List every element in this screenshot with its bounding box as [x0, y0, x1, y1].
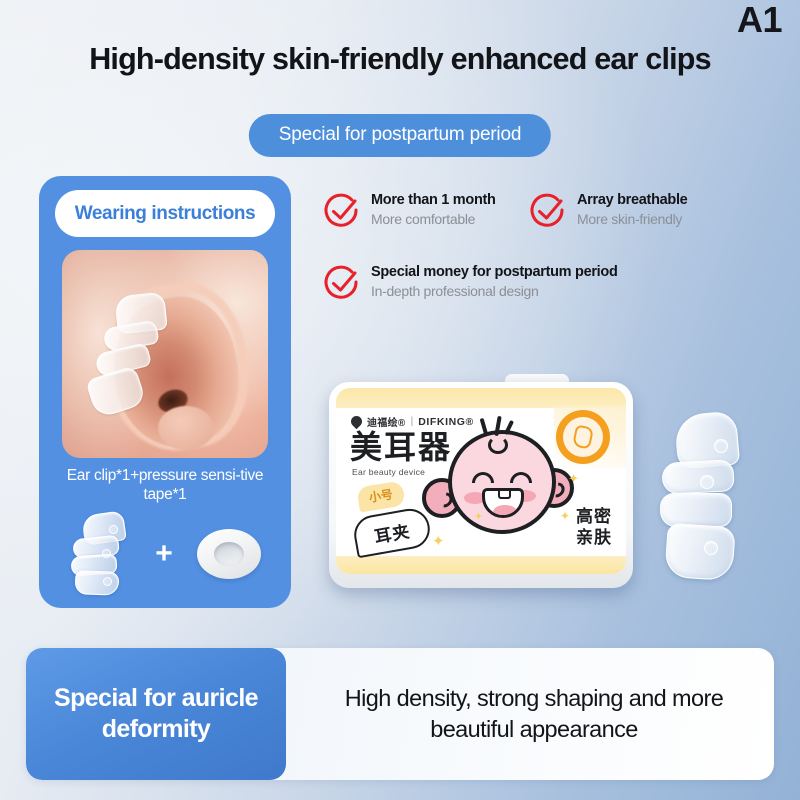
wearing-instructions-chip: Wearing instructions	[55, 190, 275, 237]
sparkle-icon: ✦	[474, 512, 483, 523]
feature-item: Special money for postpartum period In-d…	[322, 262, 618, 303]
package-label: 迪福绘® | DIFKING® 美耳器 Ear beauty device 小号…	[336, 388, 626, 574]
sparkle-icon: ✦	[568, 472, 579, 485]
baby-forehead-swirl	[488, 436, 508, 454]
brand-divider: |	[411, 416, 414, 427]
feature-text: Special money for postpartum period In-d…	[371, 262, 618, 300]
tape-hole	[214, 542, 244, 566]
feature-title: Special money for postpartum period	[371, 264, 618, 281]
auricle-deformity-label: Special for auricle deformity	[43, 683, 269, 745]
clip-speech-bubble: 耳夹	[351, 506, 433, 559]
density-claim-label: 高密亲肤	[576, 506, 612, 548]
check-circle-icon	[322, 263, 362, 303]
size-badge-label: 小号	[368, 487, 394, 505]
hair-strand	[480, 418, 489, 436]
clip-segment	[664, 523, 736, 582]
page-title: High-density skin-friendly enhanced ear …	[0, 42, 800, 77]
clip-segment	[661, 459, 735, 495]
model-code-label: A1	[737, 2, 782, 38]
feature-subtitle: More skin-friendly	[577, 210, 687, 228]
auricle-deformity-badge: Special for auricle deformity	[26, 648, 286, 780]
feature-subtitle: More comfortable	[371, 210, 496, 228]
clip-segment	[75, 570, 120, 596]
baby-hair	[480, 416, 514, 438]
bottom-description-text: High density, strong shaping and more be…	[312, 683, 756, 745]
product-poster: A1 High-density skin-friendly enhanced e…	[0, 0, 800, 800]
clip-segment	[85, 365, 147, 419]
brand-name-cn: 迪福绘®	[367, 414, 406, 429]
bottom-callout-bar: Special for auricle deformity High densi…	[26, 648, 774, 780]
feature-text: More than 1 month More comfortable	[371, 190, 496, 228]
transparent-ear-clip-photo	[660, 413, 756, 585]
ear-clip-thumbnail	[69, 513, 131, 595]
wearing-instructions-panel: Wearing instructions Ear clip*1+pressure…	[39, 176, 291, 608]
hair-strand	[504, 420, 514, 435]
baby-tooth	[498, 491, 511, 499]
ear-with-clip-photo	[62, 250, 268, 458]
label-top-band	[336, 388, 626, 408]
size-badge: 小号	[356, 481, 405, 513]
product-package-photo: 迪福绘® | DIFKING® 美耳器 Ear beauty device 小号…	[327, 372, 635, 590]
hair-strand	[494, 416, 501, 436]
feature-title: Array breathable	[577, 192, 687, 209]
check-circle-icon	[528, 191, 568, 231]
clip-hole-icon	[704, 541, 718, 555]
clip-bubble-label: 耳夹	[372, 517, 412, 548]
smiling-baby-illustration: ✦ ✦ ✦ ✦	[422, 416, 572, 566]
clip-hole-icon	[109, 525, 118, 534]
seal-clip-glyph-icon	[572, 424, 594, 449]
feature-item: More than 1 month More comfortable	[322, 190, 496, 231]
wearing-instructions-label: Wearing instructions	[75, 203, 256, 225]
clip-segment	[660, 493, 732, 527]
kit-contents-row: +	[57, 512, 273, 596]
clip-hole-icon	[103, 577, 112, 586]
clip-hole-icon	[714, 439, 728, 453]
feature-title: More than 1 month	[371, 192, 496, 209]
feature-item: Array breathable More skin-friendly	[528, 190, 687, 231]
bottom-description: High density, strong shaping and more be…	[294, 648, 774, 780]
tape-roll-thumbnail	[197, 529, 261, 579]
feature-subtitle: In-depth professional design	[371, 282, 618, 300]
sparkle-icon: ✦	[432, 534, 445, 549]
clip-hole-icon	[700, 475, 714, 489]
check-circle-icon	[322, 191, 362, 231]
product-name-en: Ear beauty device	[352, 467, 425, 477]
brand-logo-icon	[349, 414, 365, 430]
sparkle-icon: ✦	[560, 510, 570, 522]
feature-text: Array breathable More skin-friendly	[577, 190, 687, 228]
kit-contents-caption: Ear clip*1+pressure sensi-tive tape*1	[49, 466, 281, 504]
clip-hole-icon	[102, 549, 111, 558]
postpartum-badge: Special for postpartum period	[249, 114, 551, 157]
plus-icon: +	[155, 539, 173, 569]
worn-clip-overlay	[90, 294, 168, 416]
